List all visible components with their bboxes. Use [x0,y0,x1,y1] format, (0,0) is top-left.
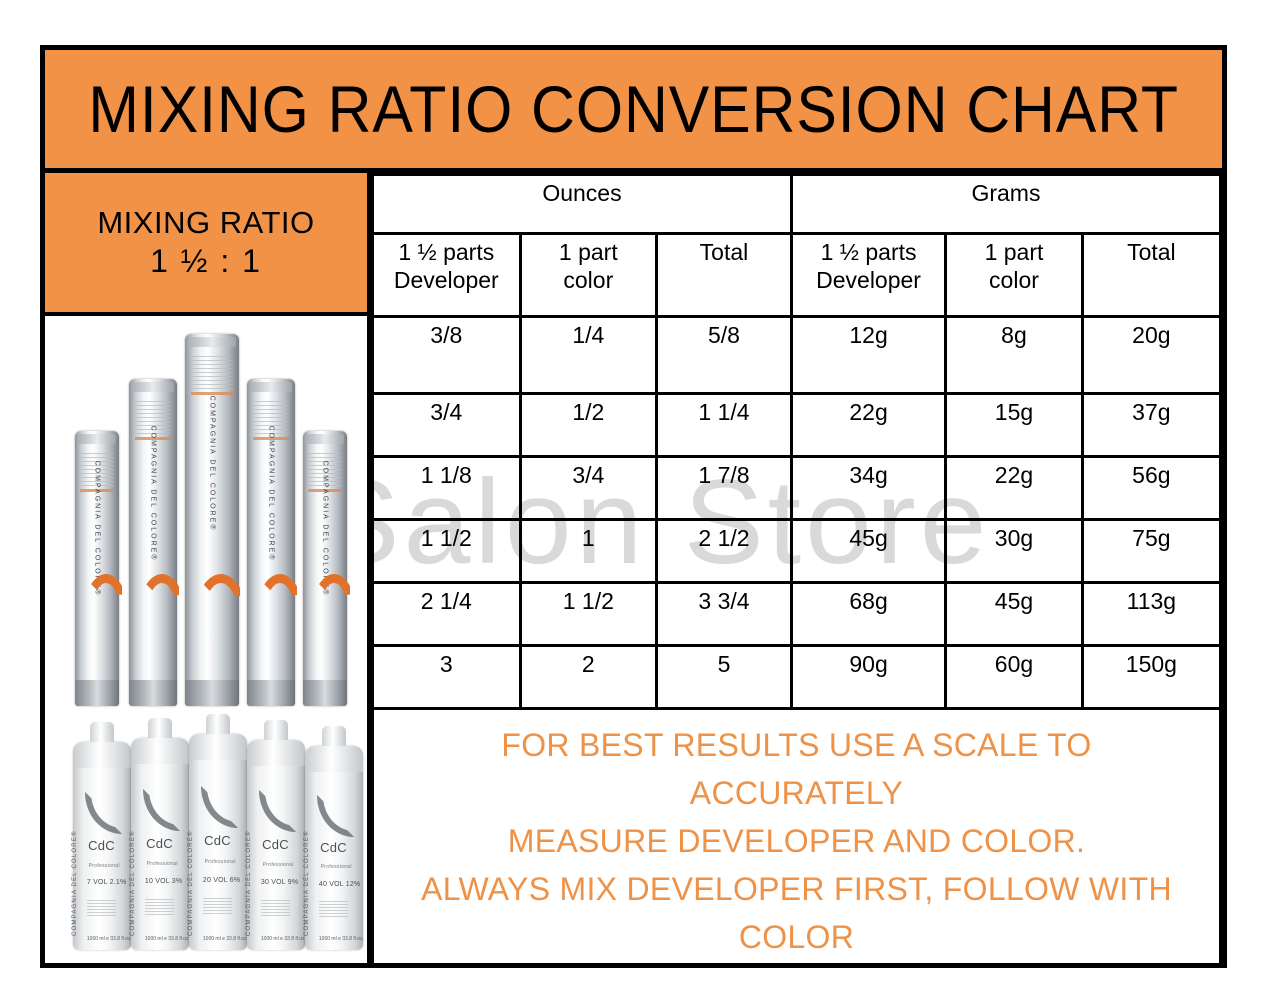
cell-oz-color: 1 1/2 [520,583,657,646]
bottle-shoulder [247,740,305,766]
cell-oz-total: 3 3/4 [657,583,792,646]
cell-oz-color: 1/4 [520,317,657,394]
table-row: 1 1/2 1 2 1/2 45g 30g 75g [373,520,1221,583]
developer-bottle: COMPAGNIA DEL COLORE® CdC Professional 7… [73,742,131,950]
bottle-brand-label: COMPAGNIA DEL COLORE® [304,830,310,936]
bottle-subtitle: Professional [263,862,294,868]
bottle-shoulder [131,738,189,764]
color-tube: COMPAGNIA DEL COLORE® [75,431,119,706]
cell-oz-developer: 1 1/8 [373,457,521,520]
tube-crimp [132,382,174,392]
bottle-fineprint [203,898,232,914]
cell-g-developer: 45g [791,520,945,583]
tube-cap [129,680,177,706]
bottle-size-label: 1000 ml e 33.8 fl.oz. [87,936,132,942]
conversion-table-wrap: Ounces Grams 1 ½ parts Developer 1 part … [371,173,1222,963]
bottle-fineprint [87,900,116,916]
cell-g-developer: 34g [791,457,945,520]
tube-stripe [191,392,232,395]
cell-g-developer: 90g [791,646,945,709]
mixing-ratio-value: 1 ½ : 1 [150,243,262,280]
bottle-size-label: 1000 ml e 33.8 fl.oz. [145,936,190,942]
col-header-line1: 1 part [524,239,654,267]
bottle-arc-icon [317,795,355,837]
bottle-size-label: 1000 ml e 33.8 fl.oz. [261,936,306,942]
tube-swoosh-icon [309,574,359,626]
col-header-oz-total: Total [657,234,792,317]
cell-g-developer: 22g [791,394,945,457]
cell-oz-total: 5 [657,646,792,709]
cell-g-color: 22g [946,457,1083,520]
cell-oz-total: 2 1/2 [657,520,792,583]
tube-swoosh-icon [81,574,131,626]
conversion-table: Ounces Grams 1 ½ parts Developer 1 part … [371,173,1222,968]
bottle-brand-label: COMPAGNIA DEL COLORE® [130,830,136,936]
tube-cap [247,680,295,706]
tube-cap [303,680,347,706]
cell-oz-color: 3/4 [520,457,657,520]
table-row: 1 1/8 3/4 1 7/8 34g 22g 56g [373,457,1221,520]
bottle-shoulder [305,746,363,772]
cell-oz-developer: 3/8 [373,317,521,394]
color-tube: COMPAGNIA DEL COLORE® [185,334,239,706]
cell-g-total: 37g [1082,394,1220,457]
cell-g-total: 75g [1082,520,1220,583]
bottle-product-label: CdC [204,833,231,848]
bottle-subtitle: Professional [147,861,178,867]
footer-note: FOR BEST RESULTS USE A SCALE TO ACCURATE… [400,721,1193,961]
color-tubes-image: COMPAGNIA DEL COLORE® COMPAGNIA DEL COLO… [59,324,359,706]
tube-brand-label: COMPAGNIA DEL COLORE® [150,426,157,562]
bottle-product-label: CdC [262,837,289,852]
bottle-arc-icon [201,786,239,828]
tube-brand-label: COMPAGNIA DEL COLORE® [209,396,216,532]
footer-line-1: FOR BEST RESULTS USE A SCALE TO ACCURATE… [400,721,1193,817]
bottle-size-label: 1000 ml e 33.8 fl.oz. [203,936,248,942]
bottle-product-label: CdC [88,838,115,853]
page-title: MIXING RATIO CONVERSION CHART [88,71,1179,147]
col-header-line1: 1 ½ parts [376,239,517,267]
bottle-arc-icon [259,790,297,832]
bottle-arc-icon [85,792,123,834]
bottle-brand-label: COMPAGNIA DEL COLORE® [246,830,252,936]
cell-g-color: 30g [946,520,1083,583]
cell-oz-developer: 3 [373,646,521,709]
col-header-g-developer: 1 ½ parts Developer [791,234,945,317]
tube-text-block [191,356,232,390]
developer-bottle: COMPAGNIA DEL COLORE® CdC Professional 4… [305,746,363,950]
developer-bottle: COMPAGNIA DEL COLORE® CdC Professional 3… [247,740,305,950]
tube-crimp [188,337,236,347]
developer-bottles-image: COMPAGNIA DEL COLORE® CdC Professional 7… [67,714,363,956]
color-tube: COMPAGNIA DEL COLORE® [129,379,177,706]
footer-line-3: ALWAYS MIX DEVELOPER FIRST, FOLLOW WITH [400,865,1193,913]
cell-oz-total: 5/8 [657,317,792,394]
bottle-volume-label: 7 VOL 2.1% [87,879,127,886]
cell-g-color: 8g [946,317,1083,394]
bottle-volume-label: 20 VOL 6% [203,877,240,884]
bottle-volume-label: 30 VOL 9% [261,879,298,886]
bottle-brand-label: COMPAGNIA DEL COLORE® [188,830,194,936]
bottle-arc-icon [143,789,181,831]
footer-line-2: MEASURE DEVELOPER AND COLOR. [400,817,1193,865]
bottle-volume-label: 10 VOL 3% [145,878,182,885]
cell-g-total: 113g [1082,583,1220,646]
table-column-header-row: 1 ½ parts Developer 1 part color Total 1… [373,234,1221,317]
bottle-volume-label: 40 VOL 12% [319,881,360,888]
product-photo-area: COMPAGNIA DEL COLORE® COMPAGNIA DEL COLO… [45,316,371,963]
col-header-line2: Developer [795,267,942,295]
bottle-product-label: CdC [146,836,173,851]
cell-g-developer: 68g [791,583,945,646]
title-band: MIXING RATIO CONVERSION CHART [45,50,1222,173]
left-panel: MIXING RATIO 1 ½ : 1 COMPAGNIA DEL COLOR… [45,173,371,963]
col-header-oz-color: 1 part color [520,234,657,317]
col-header-line2: color [949,267,1079,295]
cell-g-total: 20g [1082,317,1220,394]
cell-oz-color: 1/2 [520,394,657,457]
tube-swoosh-icon [136,574,189,626]
body-area: MIXING RATIO 1 ½ : 1 COMPAGNIA DEL COLOR… [45,173,1222,963]
developer-bottle: COMPAGNIA DEL COLORE® CdC Professional 2… [189,734,247,950]
cell-oz-developer: 2 1/4 [373,583,521,646]
cell-oz-total: 1 7/8 [657,457,792,520]
tube-crimp [250,382,292,392]
col-header-oz-developer: 1 ½ parts Developer [373,234,521,317]
table-row: 2 1/4 1 1/2 3 3/4 68g 45g 113g [373,583,1221,646]
bottle-subtitle: Professional [205,859,236,865]
bottle-product-label: CdC [320,840,347,855]
table-footer-row: FOR BEST RESULTS USE A SCALE TO ACCURATE… [373,709,1221,969]
col-header-line2: color [524,267,654,295]
cell-oz-color: 2 [520,646,657,709]
cell-g-color: 15g [946,394,1083,457]
col-header-line1: 1 ½ parts [795,239,942,267]
bottle-fineprint [261,900,290,916]
table-row: 3 2 5 90g 60g 150g [373,646,1221,709]
cell-oz-total: 1 1/4 [657,394,792,457]
col-header-line1: Total [660,239,788,267]
mixing-ratio-cell: MIXING RATIO 1 ½ : 1 [45,173,371,316]
footer-line-4: COLOR [400,913,1193,961]
unit-group-ounces: Ounces [373,175,792,234]
table-unit-header-row: Ounces Grams [373,175,1221,234]
cell-g-color: 60g [946,646,1083,709]
chart-card: MIXING RATIO CONVERSION CHART MIXING RAT… [40,45,1227,968]
cell-g-developer: 12g [791,317,945,394]
color-tube: COMPAGNIA DEL COLORE® [303,431,347,706]
color-tube: COMPAGNIA DEL COLORE® [247,379,295,706]
mixing-ratio-label: MIXING RATIO [97,205,314,241]
cell-g-total: 56g [1082,457,1220,520]
bottle-fineprint [145,899,174,915]
bottle-subtitle: Professional [321,864,352,870]
col-header-line1: 1 part [949,239,1079,267]
tube-cap [185,680,239,706]
bottle-shoulder [189,734,247,760]
cell-oz-developer: 1 1/2 [373,520,521,583]
bottle-brand-label: COMPAGNIA DEL COLORE® [72,830,78,936]
bottle-fineprint [319,901,348,917]
cell-oz-color: 1 [520,520,657,583]
tube-swoosh-icon [254,574,307,626]
bottle-subtitle: Professional [89,863,120,869]
cell-oz-developer: 3/4 [373,394,521,457]
bottle-shoulder [73,742,131,768]
cell-g-color: 45g [946,583,1083,646]
col-header-g-color: 1 part color [946,234,1083,317]
tube-cap [75,680,119,706]
tube-crimp [78,434,117,444]
unit-group-grams: Grams [791,175,1220,234]
tube-crimp [306,434,345,444]
col-header-line1: Total [1086,239,1217,267]
bottle-size-label: 1000 ml e 33.8 fl.oz. [319,936,364,942]
developer-bottle: COMPAGNIA DEL COLORE® CdC Professional 1… [131,738,189,950]
tube-brand-label: COMPAGNIA DEL COLORE® [268,426,275,562]
table-row: 3/8 1/4 5/8 12g 8g 20g [373,317,1221,394]
cell-g-total: 150g [1082,646,1220,709]
col-header-g-total: Total [1082,234,1220,317]
table-row: 3/4 1/2 1 1/4 22g 15g 37g [373,394,1221,457]
col-header-line2: Developer [376,267,517,295]
footer-note-cell: FOR BEST RESULTS USE A SCALE TO ACCURATE… [373,709,1221,969]
tube-swoosh-icon [193,574,250,626]
